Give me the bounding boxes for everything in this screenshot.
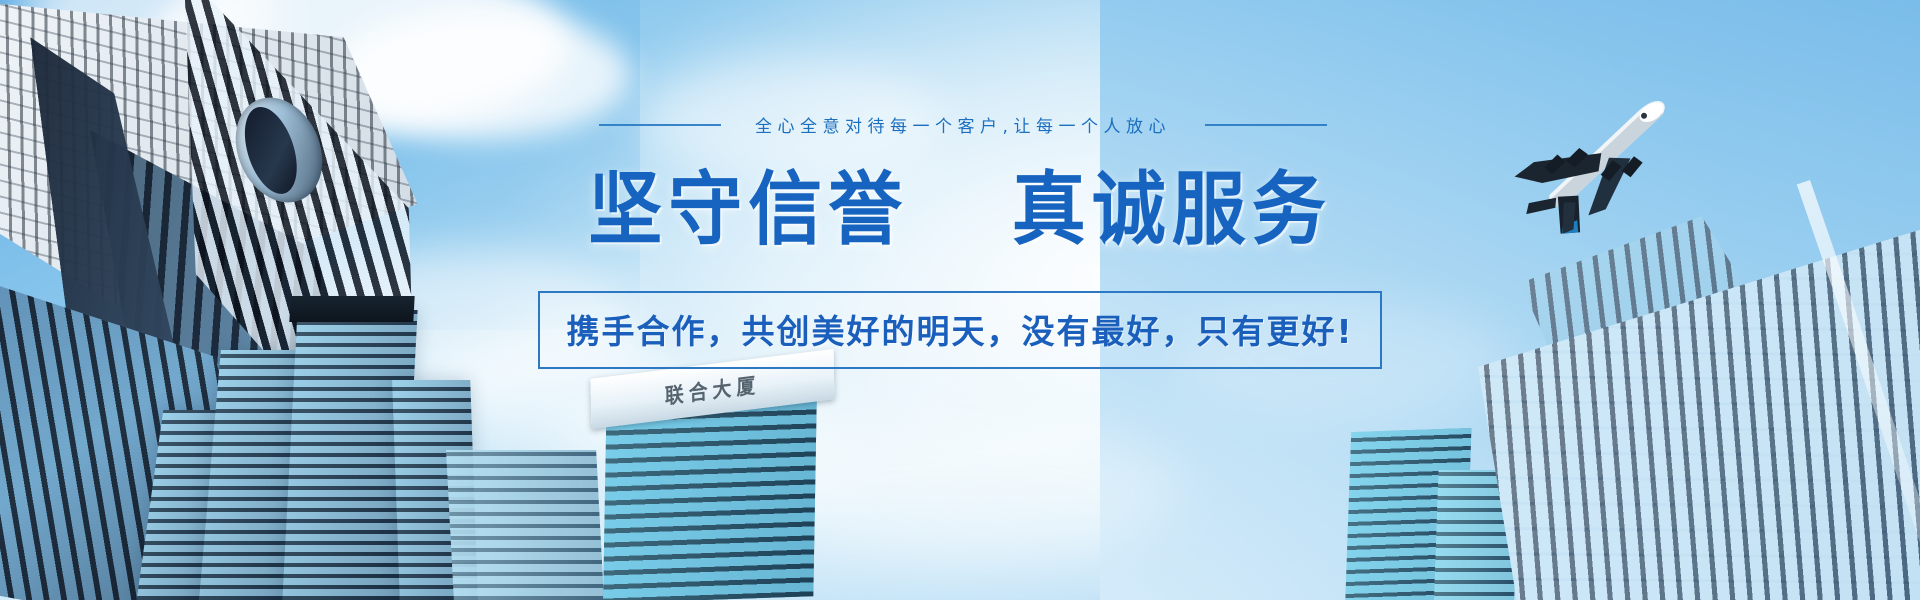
headline: 坚守信誉 真诚服务 [588,170,1332,250]
subtitle-box: 携手合作，共创美好的明天，没有最好，只有更好! [538,291,1381,369]
subtitle-text: 携手合作，共创美好的明天，没有最好，只有更好! [566,312,1353,351]
tagline-rule-left [599,124,721,126]
tagline-text: 全心全意对待每一个客户,让每一个人放心 [755,112,1171,137]
headline-part-1: 坚守信誉 [588,164,908,257]
tagline-row: 全心全意对待每一个客户,让每一个人放心 [599,112,1327,137]
hero-banner: 联合大厦 [0,0,1920,600]
banner-content: 全心全意对待每一个客户,让每一个人放心 坚守信誉 真诚服务 携手合作，共创美好的… [0,0,1920,600]
headline-part-2: 真诚服务 [1012,164,1332,257]
tagline-rule-right [1205,124,1327,126]
